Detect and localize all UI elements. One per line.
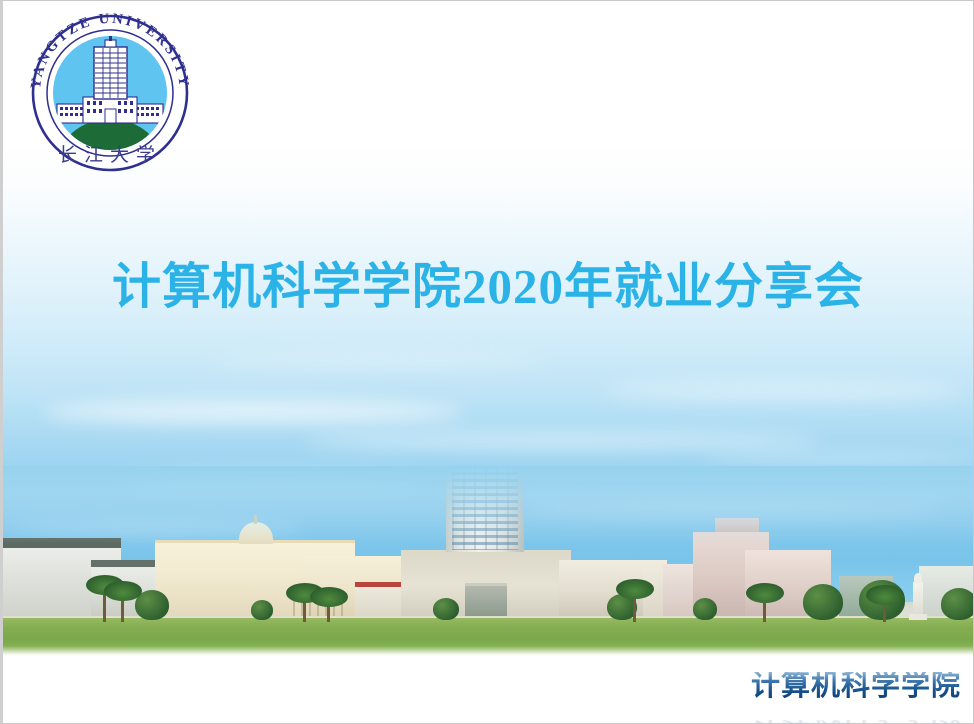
lawn [3,614,973,656]
campus-panorama-photo: 长江大学 [3,466,973,656]
cloud-wisp [43,401,463,423]
tower-window-grid [452,466,518,550]
logo-chinese-name: 长江大学 [58,144,162,166]
cloud-wisp [703,453,974,466]
tree [251,600,273,620]
cloud-wisp [213,353,543,368]
tree [433,598,459,620]
palm-tree [303,596,306,622]
tree [693,598,717,620]
dome-spire [254,515,257,524]
palm-tree [633,592,636,622]
palm-tree [121,594,124,622]
tower-podium [401,550,571,616]
building-main-tower [446,466,524,552]
main-entrance [465,583,507,616]
palm-tree [883,598,886,622]
presentation-slide: 长江大学 [0,0,974,724]
building-right-rooftop [715,518,759,532]
palm-tree [763,596,766,622]
campus-monument [913,582,923,616]
cloud-wisp [603,381,963,401]
cloud-wisp [303,433,823,449]
tree [941,588,973,620]
dome-roof [239,522,273,544]
footer-watermark: 计算机科学学院 [751,672,961,701]
page-title: 计算机科学学院2020年就业分享会 [3,259,973,316]
tree [803,584,843,620]
university-logo: YANGTZE UNIVERSITY 长江大学 [21,13,199,173]
palm-tree [327,600,330,622]
